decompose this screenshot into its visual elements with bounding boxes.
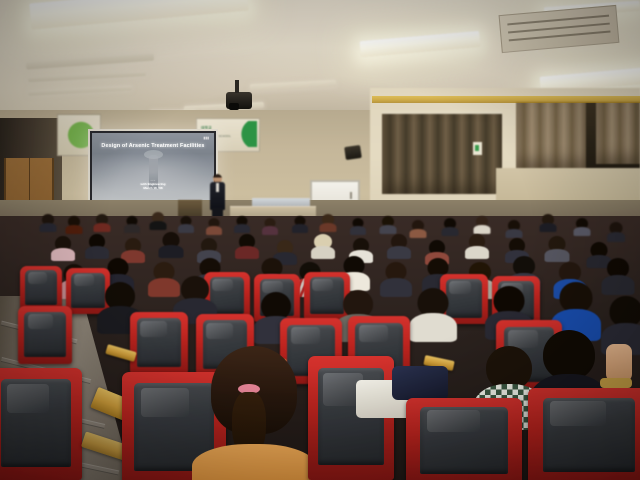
slide-title: Design of Arsenic Treatment Facilities — [96, 143, 210, 149]
audience-member — [412, 288, 454, 338]
window-curtain — [516, 102, 586, 168]
dark-bag — [392, 366, 448, 400]
audience-member — [40, 214, 56, 230]
auditorium-seat[interactable] — [20, 266, 62, 310]
audience-member — [160, 232, 182, 256]
slide-subtitle: · · · with Engineering March 18, '08 — [92, 179, 214, 191]
auditorium-seat[interactable] — [308, 356, 394, 480]
audience-member — [66, 216, 82, 232]
audience-member — [150, 262, 178, 296]
audience-member — [206, 218, 222, 234]
raised-hand — [606, 344, 632, 382]
audience-member — [262, 218, 278, 234]
presenter — [210, 174, 225, 218]
audience-member — [604, 258, 632, 292]
wall-speaker-icon — [344, 145, 362, 160]
audience-member — [350, 218, 366, 234]
auditorium-seat[interactable] — [406, 398, 522, 480]
audience-member — [546, 236, 568, 260]
audience-member — [234, 216, 250, 232]
window-curtain — [596, 102, 640, 164]
audience-member — [94, 214, 110, 230]
audience-member — [292, 216, 308, 232]
audience-member — [540, 214, 556, 230]
green-swoosh-icon — [235, 121, 257, 147]
window-curtain — [382, 114, 502, 194]
auditorium-seat[interactable] — [18, 306, 72, 364]
audience-member — [320, 214, 336, 230]
lecture-hall-photo: 대학교 GRADUATE SCHOOL Design of Arsenic Tr… — [0, 0, 640, 480]
audience-member — [86, 234, 108, 258]
audience-member — [388, 234, 410, 258]
audience-member — [574, 218, 590, 234]
audience-member — [506, 220, 522, 236]
audience-member — [312, 234, 334, 258]
audience-member — [52, 236, 74, 260]
auditorium-seat[interactable] — [0, 368, 82, 480]
audience-member — [178, 216, 194, 232]
projector-icon — [226, 92, 252, 109]
auditorium-seat[interactable] — [528, 388, 640, 480]
audience-member — [442, 218, 458, 234]
audience-member — [410, 220, 426, 236]
wall-trim-band — [372, 96, 640, 103]
audience-member — [604, 296, 640, 348]
presenter-shirt — [216, 183, 219, 192]
exit-marker-icon — [475, 145, 479, 151]
slide-logo-corner: ▮▮▮ — [203, 136, 209, 140]
slide-subtitle-line3: March 18, '08 — [92, 187, 214, 191]
wrist-band — [600, 378, 632, 388]
auditorium-seat[interactable] — [130, 312, 188, 374]
audience-member — [236, 234, 258, 258]
foreground-woman-ponytail — [196, 346, 312, 480]
audience-member — [474, 216, 490, 232]
audience-member — [466, 234, 488, 258]
audience-member — [124, 216, 140, 232]
audience-member — [380, 216, 396, 232]
audience-member — [382, 262, 410, 296]
audience-member — [150, 212, 166, 228]
audience-member — [608, 222, 624, 238]
